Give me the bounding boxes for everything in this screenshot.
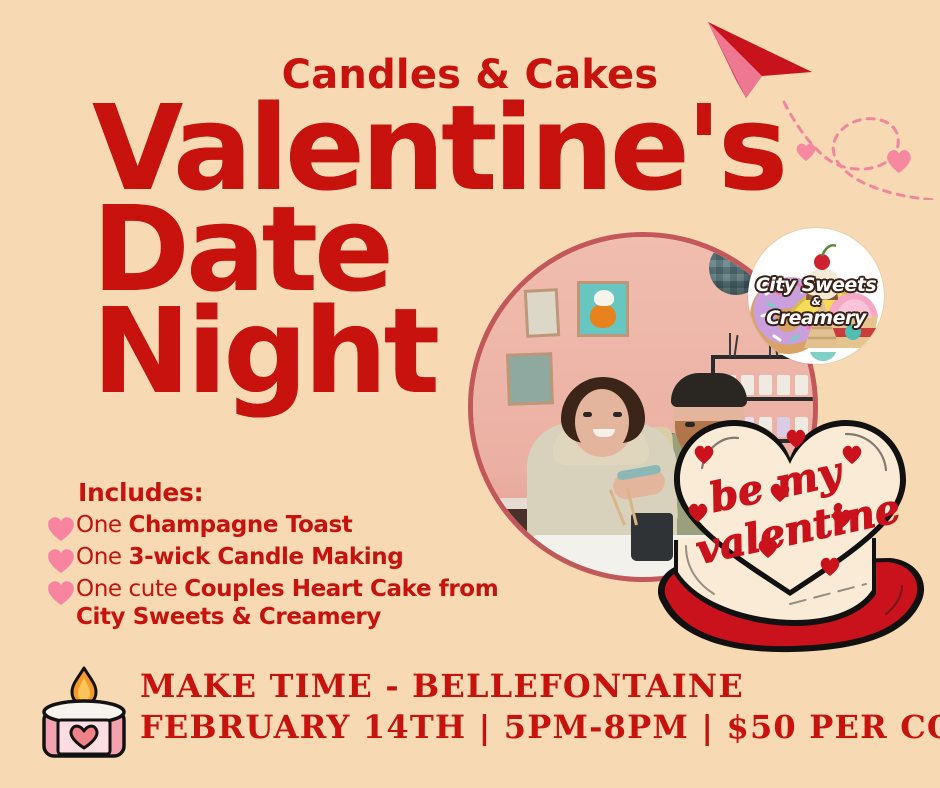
candle-icon [36,662,132,762]
heart-icon [46,548,76,574]
title-line-3: Night [92,301,792,402]
heart-cake-illustration: be my valentine [640,398,940,670]
item-bold: Champagne Toast [129,512,353,538]
includes-heading: Includes: [78,478,548,507]
list-item-text: One cute Couples Heart Cake from City Sw… [76,575,548,631]
city-sweets-logo: City Sweets & Creamery [748,228,884,364]
heart-icon [885,148,913,174]
logo-text: City Sweets & Creamery [748,276,884,328]
footer-details: FEBRUARY 14TH | 5PM-8PM | $50 PER COUPLE [140,706,940,749]
item-lead: One [76,544,129,570]
list-item-text: One 3-wick Candle Making [76,543,403,571]
list-item: One 3-wick Candle Making [78,543,548,574]
footer-block: MAKE TIME - BELLEFONTAINE FEBRUARY 14TH … [140,666,940,749]
item-lead: One cute [76,576,184,602]
heart-icon [46,580,76,606]
logo-line-1: City Sweets [756,274,876,296]
page-title: Valentine's Date Night [92,98,792,402]
footer-location: MAKE TIME - BELLEFONTAINE [140,666,940,706]
heart-icon [795,142,817,162]
item-bold: 3-wick Candle Making [129,544,404,570]
list-item: One cute Couples Heart Cake from City Sw… [78,575,548,631]
list-item-text: One Champagne Toast [76,511,352,539]
item-lead: One [76,512,129,538]
heart-icon [46,516,76,542]
valentines-date-night-flyer: Candles & Cakes Valentine's Date Night [0,0,940,788]
logo-line-2: Creamery [748,309,884,328]
includes-block: Includes: One Champagne Toast One 3-wick… [78,478,548,632]
logo-ampersand: & [748,296,884,308]
list-item: One Champagne Toast [78,511,548,542]
